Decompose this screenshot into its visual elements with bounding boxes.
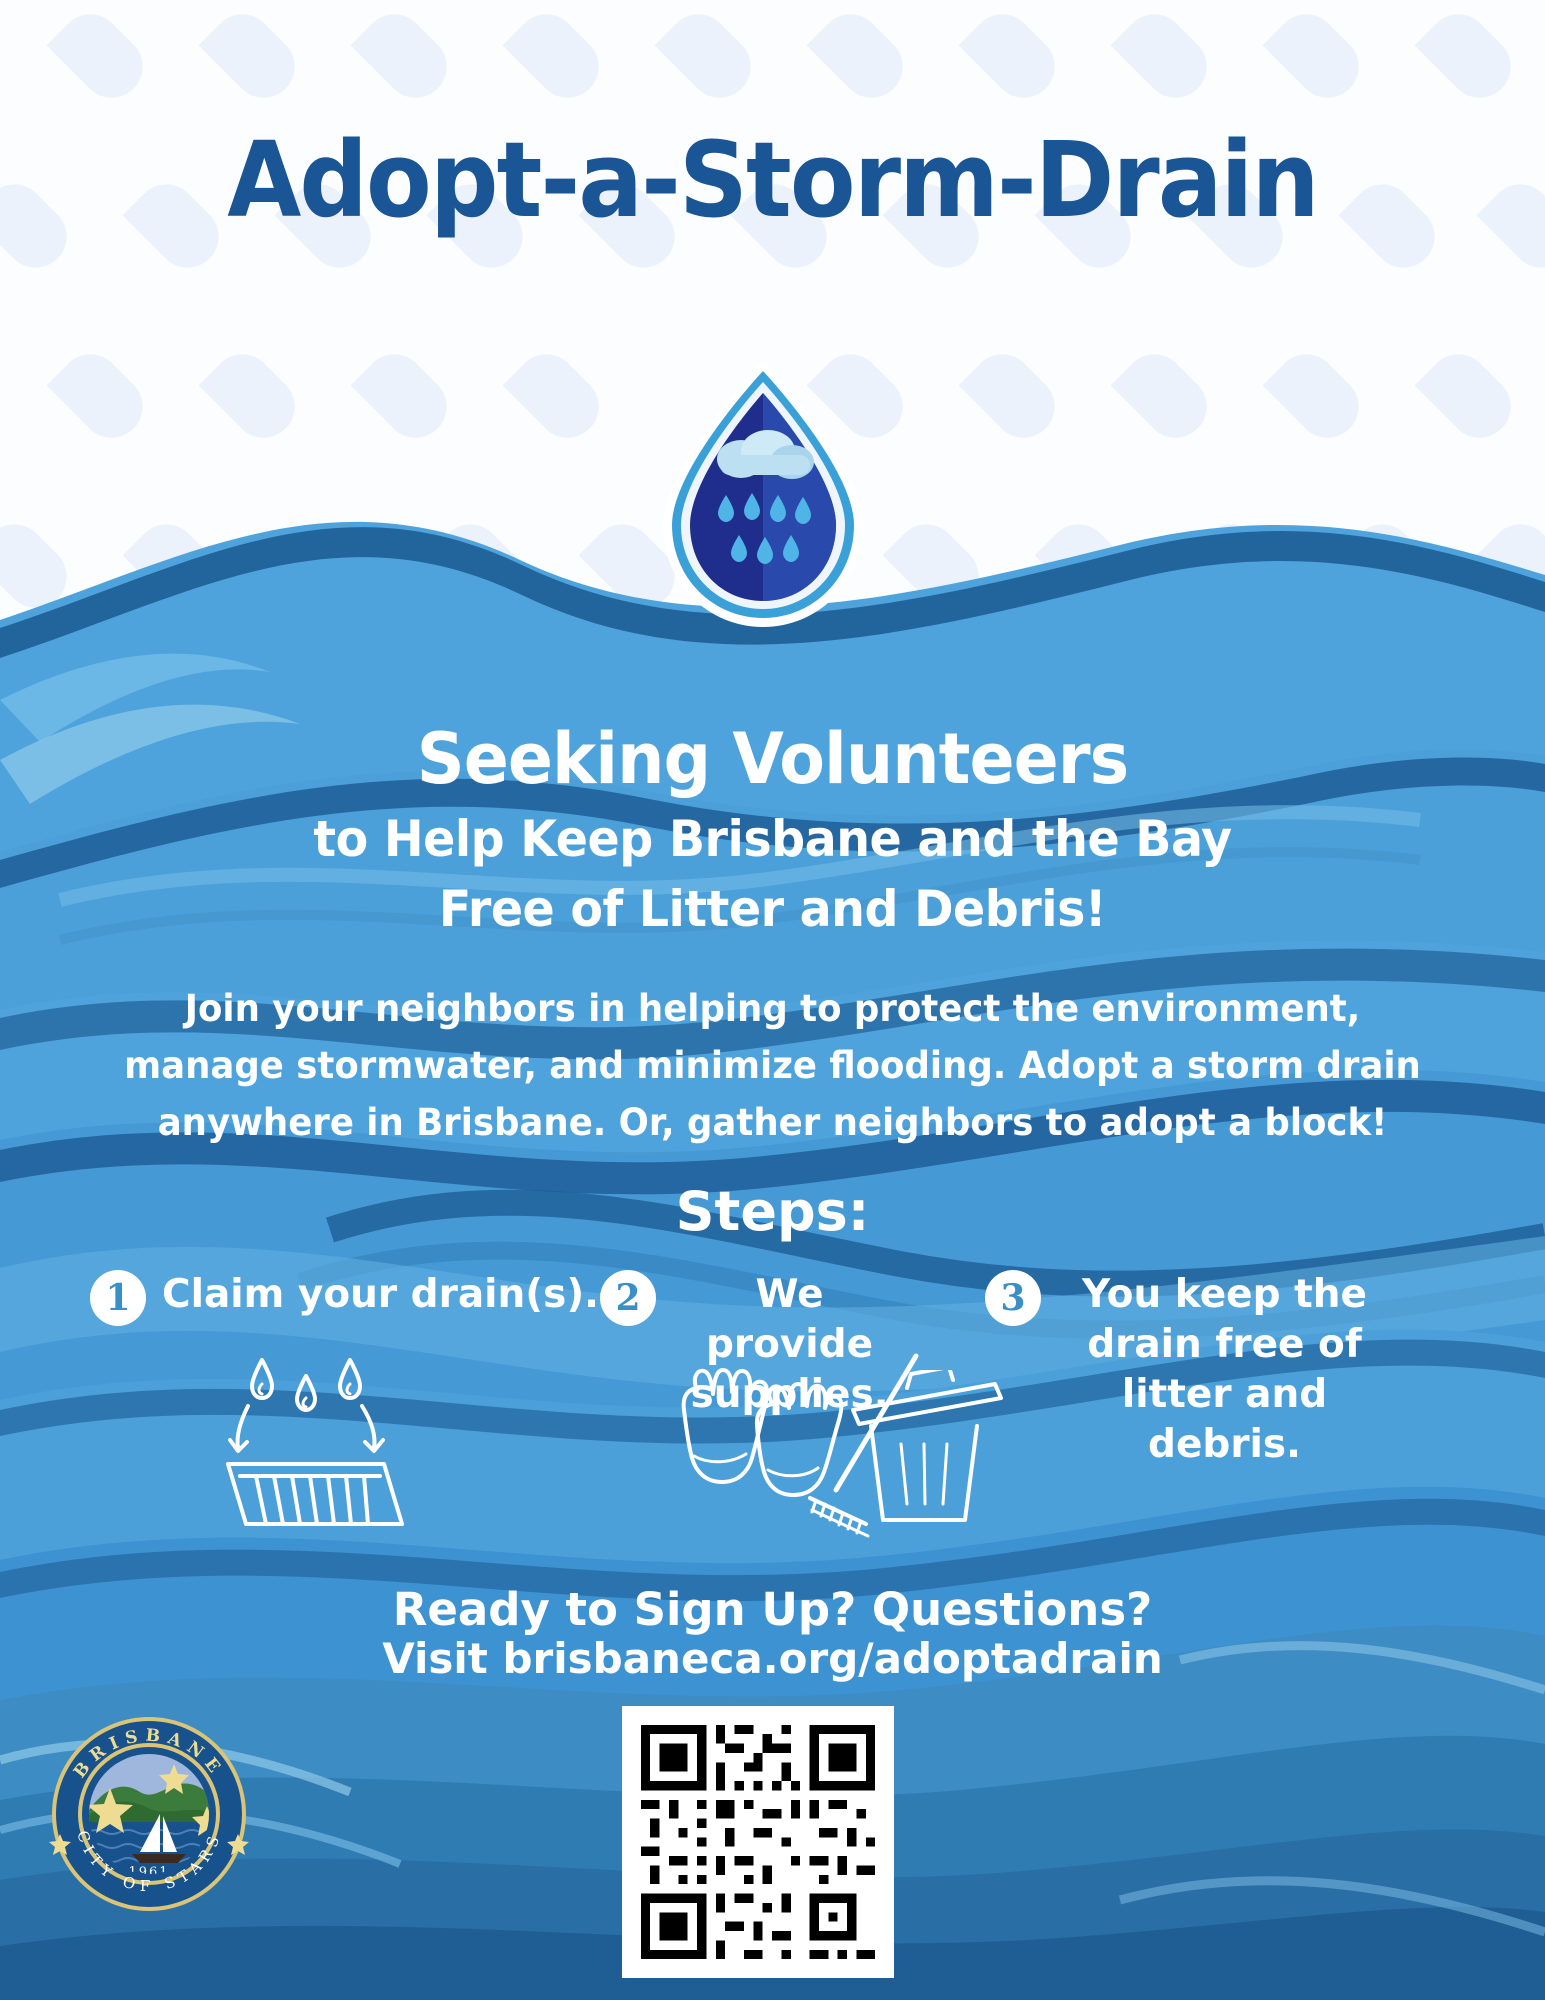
step-1-number: 1 xyxy=(90,1270,146,1326)
body-paragraph: Join your neighbors in helping to protec… xyxy=(122,980,1423,1151)
step-3-label: You keep the drain free of litter and de… xyxy=(1047,1270,1402,1470)
visit-url[interactable]: Visit brisbaneca.org/adoptadrain xyxy=(0,1634,1545,1683)
subhead-line-1: to Help Keep Brisbane and the Bay xyxy=(39,810,1507,868)
qr-code[interactable] xyxy=(622,1706,894,1978)
subhead-line-2: Free of Litter and Debris! xyxy=(39,880,1507,938)
poster: Adopt-a-Storm-Drain xyxy=(0,0,1545,2000)
steps-title: Steps: xyxy=(0,1180,1545,1243)
headline: Seeking Volunteers xyxy=(39,718,1507,800)
step-2-number: 2 xyxy=(600,1270,656,1326)
poster-content: Seeking Volunteers to Help Keep Brisbane… xyxy=(0,0,1545,2000)
step-3-number: 3 xyxy=(985,1270,1041,1326)
signup-prompt: Ready to Sign Up? Questions? xyxy=(0,1583,1545,1636)
city-of-brisbane-seal: 1961 BRISBANE CITY OF STARS xyxy=(44,1706,254,1921)
step-1-label: Claim your drain(s). xyxy=(162,1270,582,1320)
trash-can-icon xyxy=(845,1370,1035,1530)
storm-drain-grate-icon xyxy=(210,1348,420,1538)
